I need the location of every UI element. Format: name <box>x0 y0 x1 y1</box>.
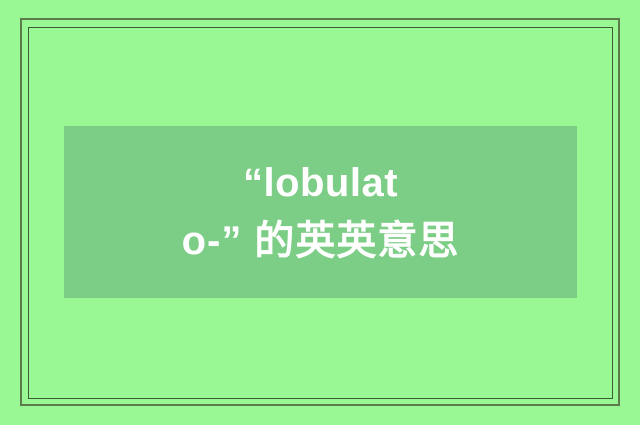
title-line-1: “lobulat <box>243 154 398 212</box>
title-banner: “lobulat o-” 的英英意思 <box>64 126 577 298</box>
page-canvas: “lobulat o-” 的英英意思 <box>0 0 640 425</box>
title-line-2: o-” 的英英意思 <box>182 212 460 270</box>
